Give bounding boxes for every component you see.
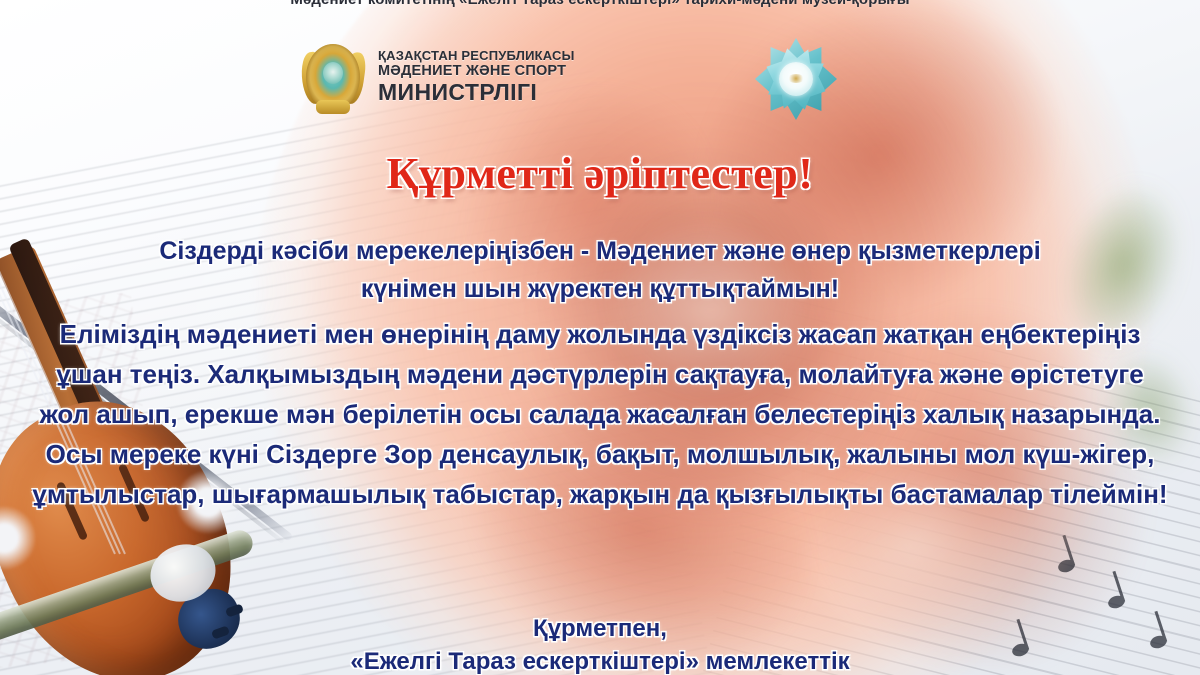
ministry-text-block: ҚАЗАҚСТАН РЕСПУБЛИКАСЫ МӘДЕНИЕТ ЖӘНЕ СПО… (378, 49, 575, 106)
signature-line-2: «Ежелгі Тараз ескерткіштері» мемлекеттік (0, 645, 1200, 675)
signature-line-1: Құрметпен, (0, 612, 1200, 645)
greeting-paragraph-2: Еліміздің мәдениеті мен өнерінің даму жо… (0, 314, 1200, 514)
greeting-line: Еліміздің мәдениеті мен өнерінің даму жо… (0, 314, 1200, 354)
museum-logo (755, 38, 837, 120)
emblem-center (323, 62, 343, 84)
greeting-body: Сіздерді кәсіби мерекелеріңізбен - Мәден… (0, 232, 1200, 514)
star-core-icon (779, 62, 813, 96)
ministry-line-3: МИНИСТРЛІГІ (378, 80, 575, 106)
ministry-line-2: МӘДЕНИЕТ ЖӘНЕ СПОРТ (378, 63, 575, 79)
ministry-logo: ҚАЗАҚСТАН РЕСПУБЛИКАСЫ МӘДЕНИЕТ ЖӘНЕ СПО… (300, 36, 575, 118)
page-title: Құрметті әріптестер! (0, 148, 1200, 199)
emblem-base (316, 100, 350, 114)
greeting-line: ұмтылыстар, шығармашылық табыстар, жарқы… (0, 474, 1200, 514)
greeting-line: Осы мереке күні Сіздерге Зор денсаулық, … (0, 434, 1200, 474)
poster-content: Мәдениет комитетінің «Ежелгі Тараз ескер… (0, 0, 1200, 675)
signature-block: Құрметпен, «Ежелгі Тараз ескерткіштері» … (0, 612, 1200, 675)
kazakhstan-state-emblem-icon (300, 36, 366, 118)
greeting-line: күнімен шын жүректен құттықтаймын! (0, 270, 1200, 308)
greeting-line: Сіздерді кәсіби мерекелеріңізбен - Мәден… (0, 232, 1200, 270)
greeting-poster: Мәдениет комитетінің «Ежелгі Тараз ескер… (0, 0, 1200, 675)
greeting-paragraph-1: Сіздерді кәсіби мерекелеріңізбен - Мәден… (0, 232, 1200, 308)
top-banner-text: Мәдениет комитетінің «Ежелгі Тараз ескер… (0, 0, 1200, 11)
logo-row: ҚАЗАҚСТАН РЕСПУБЛИКАСЫ МӘДЕНИЕТ ЖӘНЕ СПО… (0, 34, 1200, 124)
greeting-line: жол ашып, ерекше мән берілетін осы салад… (0, 394, 1200, 434)
ministry-line-1: ҚАЗАҚСТАН РЕСПУБЛИКАСЫ (378, 49, 575, 64)
greeting-line: ұшан теңіз. Халқымыздың мәдени дәстүрлер… (0, 354, 1200, 394)
